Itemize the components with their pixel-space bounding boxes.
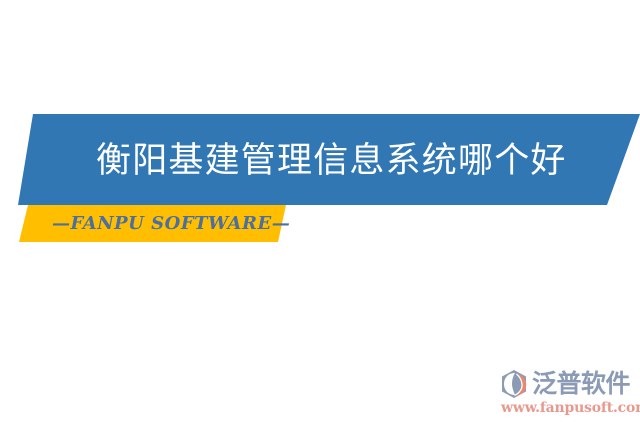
logo-wordmark: 泛普软件 [532,368,630,400]
banner-title: 衡阳基建管理信息系统哪个好 [96,133,556,189]
logo-url: www.fanpusoft.com [501,400,640,416]
title-banner-group: 衡阳基建管理信息系统哪个好 —FANPU SOFTWARE— [0,0,640,260]
slide-canvas: 衡阳基建管理信息系统哪个好 —FANPU SOFTWARE— 泛普软件 www.… [0,0,640,427]
banner-subtitle: —FANPU SOFTWARE— [52,211,290,237]
brand-logo: 泛普软件 www.fanpusoft.com [498,366,636,422]
logo-row: 泛普软件 [498,366,630,402]
fanpu-logo-mark-icon [498,368,530,400]
